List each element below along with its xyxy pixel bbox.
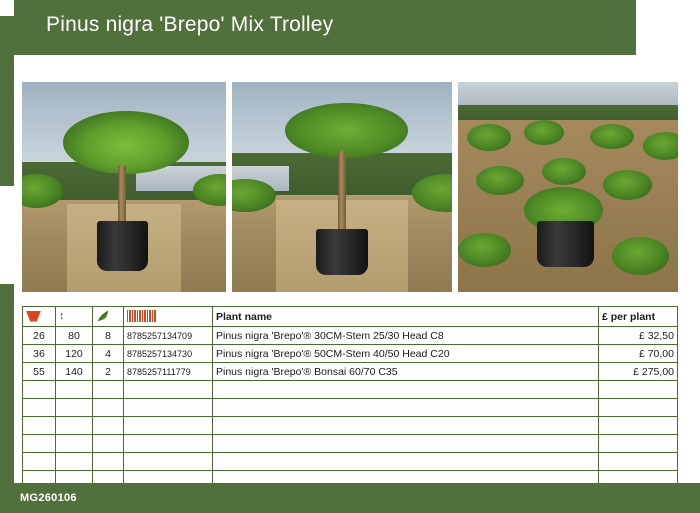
product-code: MG260106 — [20, 492, 77, 504]
cell-empty — [23, 417, 56, 435]
cell-empty — [56, 417, 93, 435]
cell-empty — [599, 381, 678, 399]
column-header-buds — [93, 307, 124, 327]
cell-plant-name: Pinus nigra 'Brepo'® Bonsai 60/70 C35 — [213, 363, 599, 381]
cell-plant-name: Pinus nigra 'Brepo'® 30CM-Stem 25/30 Hea… — [213, 327, 599, 345]
cell-code: 8785257134730 — [124, 345, 213, 363]
height-arrow-icon: ↕ — [59, 311, 65, 322]
table-header-row: ↕ Plant name £ per plant — [23, 307, 678, 327]
cell-empty — [93, 435, 124, 453]
column-header-barcode — [124, 307, 213, 327]
cell-price: £ 70,00 — [599, 345, 678, 363]
cell-price: £ 275,00 — [599, 363, 678, 381]
cell-height: 120 — [56, 345, 93, 363]
cell-empty — [124, 381, 213, 399]
cell-empty — [56, 435, 93, 453]
cell-height: 80 — [56, 327, 93, 345]
footer-bar — [0, 483, 700, 513]
table-row-empty — [23, 435, 678, 453]
cell-empty — [56, 453, 93, 471]
cell-empty — [213, 381, 599, 399]
cell-buds: 8 — [93, 327, 124, 345]
cell-price: £ 32,50 — [599, 327, 678, 345]
cell-empty — [599, 399, 678, 417]
cell-buds: 2 — [93, 363, 124, 381]
header-right-notch — [636, 0, 700, 55]
plant-table: ↕ Plant name £ per plant — [22, 306, 678, 489]
table-row: 36 120 4 8785257134730 Pinus nigra 'Brep… — [23, 345, 678, 363]
cell-empty — [213, 435, 599, 453]
table-body: 26 80 8 8785257134709 Pinus nigra 'Brepo… — [23, 327, 678, 489]
cell-empty — [56, 399, 93, 417]
cell-empty — [23, 399, 56, 417]
photo-pinus-nigra-brepo-stem-tall — [232, 82, 452, 292]
cell-buds: 4 — [93, 345, 124, 363]
left-notch-top — [0, 0, 14, 16]
cell-code: 8785257134709 — [124, 327, 213, 345]
photo-pinus-nigra-brepo-bonsai-field — [458, 82, 678, 292]
table-row: 55 140 2 8785257111779 Pinus nigra 'Brep… — [23, 363, 678, 381]
cell-empty — [213, 399, 599, 417]
column-header-plant-name: Plant name — [213, 307, 599, 327]
cell-plant-name: Pinus nigra 'Brepo'® 50CM-Stem 40/50 Hea… — [213, 345, 599, 363]
left-notch-mid — [0, 186, 14, 284]
table-row: 26 80 8 8785257134709 Pinus nigra 'Brepo… — [23, 327, 678, 345]
cell-empty — [93, 381, 124, 399]
barcode-icon — [127, 310, 157, 322]
cell-empty — [213, 453, 599, 471]
cell-empty — [93, 417, 124, 435]
cell-height: 140 — [56, 363, 93, 381]
catalogue-page: Pinus nigra 'Brepo' Mix Trolley — [0, 0, 700, 513]
leaf-icon — [96, 310, 110, 322]
cell-empty — [93, 453, 124, 471]
cell-empty — [599, 417, 678, 435]
column-header-price: £ per plant — [599, 307, 678, 327]
cell-empty — [56, 381, 93, 399]
table-row-empty — [23, 399, 678, 417]
photo-strip — [22, 82, 678, 292]
cell-trolley: 36 — [23, 345, 56, 363]
cell-empty — [23, 435, 56, 453]
table-row-empty — [23, 453, 678, 471]
cell-empty — [124, 453, 213, 471]
column-header-trolley — [23, 307, 56, 327]
cell-trolley: 26 — [23, 327, 56, 345]
cell-empty — [599, 435, 678, 453]
cell-empty — [124, 435, 213, 453]
cell-empty — [93, 399, 124, 417]
photo-pinus-nigra-brepo-stem-front — [22, 82, 226, 292]
trolley-icon — [26, 311, 41, 322]
cell-empty — [213, 417, 599, 435]
cell-empty — [599, 453, 678, 471]
page-title: Pinus nigra 'Brepo' Mix Trolley — [46, 13, 333, 37]
cell-trolley: 55 — [23, 363, 56, 381]
cell-empty — [124, 399, 213, 417]
table-row-empty — [23, 381, 678, 399]
cell-empty — [124, 417, 213, 435]
cell-code: 8785257111779 — [124, 363, 213, 381]
column-header-height: ↕ — [56, 307, 93, 327]
cell-empty — [23, 453, 56, 471]
cell-empty — [23, 381, 56, 399]
table-row-empty — [23, 417, 678, 435]
